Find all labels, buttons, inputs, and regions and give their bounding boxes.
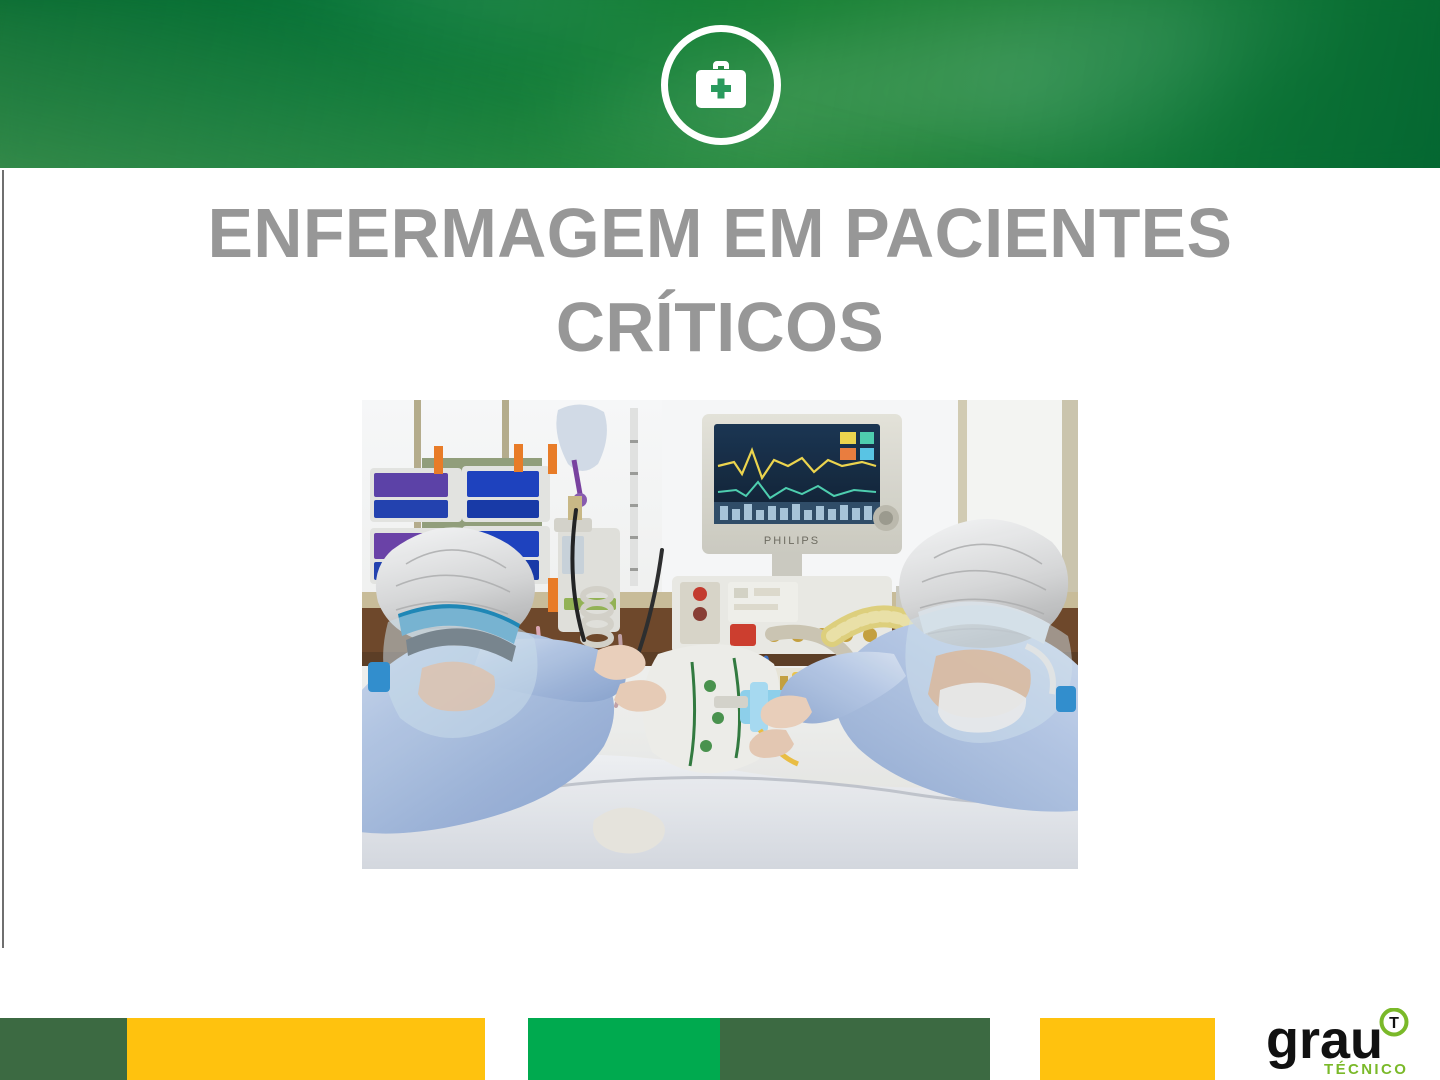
page-title-line-2: CRÍTICOS: [22, 280, 1419, 374]
header-band: [0, 0, 1440, 168]
footer-bar-green-mid: [528, 1018, 720, 1080]
content-left-rule: [2, 170, 4, 948]
logo-subtitle-text: TÉCNICO: [1324, 1061, 1408, 1076]
icu-nurses-photo: PHILIPS: [362, 400, 1078, 869]
header-light-sweep: [0, 0, 1240, 168]
logo-t-badge-letter: T: [1389, 1015, 1399, 1032]
slide-root: ENFERMAGEM EM PACIENTES CRÍTICOS: [0, 0, 1440, 1080]
page-title: ENFERMAGEM EM PACIENTES CRÍTICOS: [22, 186, 1419, 374]
grau-tecnico-logo: grau T TÉCNICO: [1262, 1008, 1430, 1076]
footer-bar-dark-green-left: [0, 1018, 127, 1080]
page-title-line-1: ENFERMAGEM EM PACIENTES: [22, 186, 1419, 280]
medical-kit-icon: [661, 25, 781, 145]
footer-bar-dark-green-mid: [720, 1018, 990, 1080]
footer-bar-yellow-right: [1040, 1018, 1215, 1080]
footer-bar-yellow-left: [127, 1018, 485, 1080]
